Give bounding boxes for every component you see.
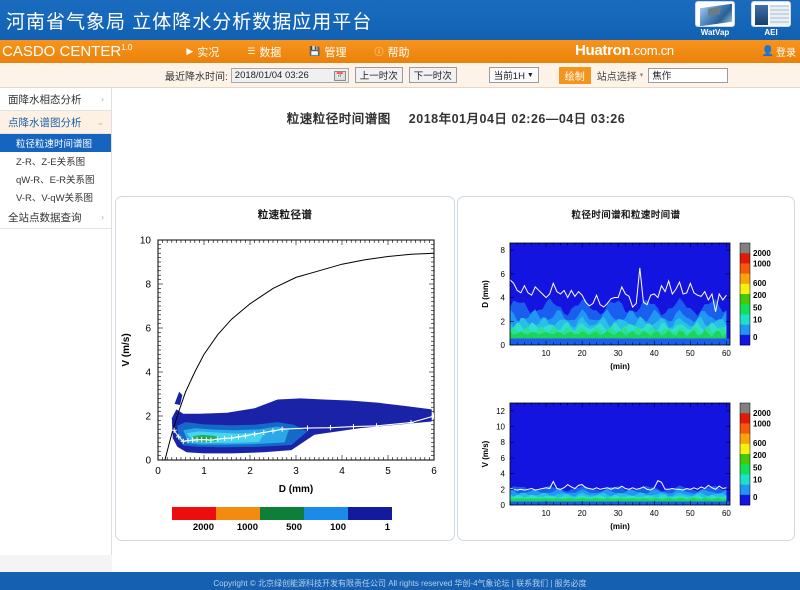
- svg-text:60: 60: [722, 509, 731, 518]
- svg-text:10: 10: [140, 236, 152, 247]
- svg-text:2: 2: [145, 412, 151, 423]
- nav-item-data-label: 数据: [259, 44, 281, 60]
- sidebar-group-all-station-query[interactable]: 全站点数据查询 ›: [0, 206, 111, 229]
- sidebar-item-size-velocity-time-spectrum[interactable]: 粒径粒速时间谱图: [0, 134, 111, 152]
- svg-text:50: 50: [686, 509, 695, 518]
- svg-text:0: 0: [501, 501, 506, 510]
- site-input-value: 焦作: [652, 68, 671, 82]
- svg-text:100: 100: [330, 522, 346, 533]
- sidebar-footer-pad: [0, 555, 112, 572]
- query-toolbar: 最近降水时间: 2018/01/04 03:26 📅 上一时次 下一时次 当前1…: [0, 63, 800, 88]
- svg-text:6: 6: [501, 454, 506, 463]
- svg-text:2: 2: [247, 466, 253, 477]
- svg-text:10: 10: [753, 316, 762, 325]
- svg-text:30: 30: [614, 349, 623, 358]
- latest-time-label: 最近降水时间:: [165, 68, 228, 83]
- svg-text:50: 50: [753, 303, 762, 312]
- svg-text:10: 10: [496, 423, 505, 432]
- svg-text:D (mm): D (mm): [279, 484, 313, 495]
- svg-text:2000: 2000: [753, 409, 771, 418]
- application-window: 河南省气象局 立体降水分析数据应用平台 WatVap AEI CASDO CEN…: [0, 0, 800, 590]
- svg-text:6: 6: [431, 466, 437, 477]
- nav-items: ▶ 实况 ☰ 数据 💾 管理 ⓘ 帮助: [172, 44, 423, 60]
- svg-text:2: 2: [501, 317, 506, 326]
- svg-text:0: 0: [501, 341, 506, 350]
- svg-text:(min): (min): [610, 362, 630, 371]
- svg-text:1: 1: [385, 522, 391, 533]
- svg-text:1000: 1000: [753, 419, 771, 428]
- sidebar-group-area-phase-analysis[interactable]: 面降水相态分析 ›: [0, 88, 111, 111]
- datetime-input[interactable]: 2018/01/04 03:26 📅: [231, 68, 349, 83]
- chevron-right-icon: ›: [101, 212, 104, 222]
- sidebar-item-zr-ze[interactable]: Z-R、Z-E关系图: [0, 152, 111, 170]
- chart-panel-time-spectra: 粒径时间谱和粒速时间谱 02468102030405060(min)D (mm)…: [457, 196, 795, 541]
- chart-title-velocity-diameter: 粒速粒径谱: [116, 207, 454, 222]
- brand-name: CASDO CENTER: [2, 43, 121, 60]
- page-time-range: 2018年01月04日 02:26—04日 03:26: [409, 112, 625, 126]
- page-footer: Copyright © 北京绿创能源科技开发有限责任公司 All rights …: [0, 572, 800, 590]
- nav-item-manage[interactable]: 💾 管理: [295, 44, 360, 60]
- nav-item-live[interactable]: ▶ 实况: [172, 44, 233, 60]
- nav-item-live-label: 实况: [197, 44, 219, 60]
- list-icon: ☰: [247, 46, 255, 57]
- page-banner: 河南省气象局 立体降水分析数据应用平台 WatVap AEI: [0, 0, 800, 40]
- sidebar-navigation: 面降水相态分析 › 点降水谱图分析 ⌄ 粒径粒速时间谱图 Z-R、Z-E关系图 …: [0, 88, 112, 555]
- svg-text:600: 600: [753, 439, 767, 448]
- chevron-down-icon: ▼: [527, 72, 534, 79]
- chevron-down-icon: ⌄: [96, 117, 104, 128]
- calendar-icon[interactable]: 📅: [334, 71, 346, 81]
- nav-item-help[interactable]: ⓘ 帮助: [361, 44, 424, 60]
- prev-time-button[interactable]: 上一时次: [355, 67, 403, 83]
- svg-text:10: 10: [542, 349, 551, 358]
- svg-text:20: 20: [578, 349, 587, 358]
- svg-text:40: 40: [650, 349, 659, 358]
- draw-button[interactable]: 绘制: [559, 67, 591, 84]
- svg-text:6: 6: [145, 324, 151, 335]
- svg-text:12: 12: [496, 407, 505, 416]
- sidebar-item-vr-vqw[interactable]: V-R、V-qW关系图: [0, 188, 111, 206]
- svg-text:1000: 1000: [237, 522, 258, 533]
- sidebar-group-point-spectrum-analysis[interactable]: 点降水谱图分析 ⌄: [0, 111, 111, 134]
- app-shortcut-aei-label: AEI: [764, 28, 777, 37]
- svg-text:10: 10: [753, 476, 762, 485]
- svg-text:4: 4: [501, 470, 506, 479]
- svg-text:40: 40: [650, 509, 659, 518]
- time-spectra-chart[interactable]: 02468102030405060(min)D (mm)200010006002…: [458, 221, 794, 541]
- svg-text:600: 600: [753, 279, 767, 288]
- nav-item-help-label: 帮助: [388, 44, 410, 60]
- main-content: 粒速粒径时间谱图 2018年01月04日 02:26—04日 03:26 粒速粒…: [112, 88, 800, 555]
- help-icon: ⓘ: [375, 45, 384, 58]
- svg-text:50: 50: [686, 349, 695, 358]
- nav-item-data[interactable]: ☰ 数据: [233, 44, 295, 60]
- save-icon: 💾: [309, 46, 320, 57]
- sidebar-group-all-station-query-label: 全站点数据查询: [8, 210, 82, 225]
- main-navigation-bar: CASDO CENTER1.0 ▶ 实况 ☰ 数据 💾 管理 ⓘ 帮助 Huat…: [0, 40, 800, 63]
- login-label: 登录: [776, 44, 796, 59]
- datetime-value: 2018/01/04 03:26: [235, 70, 309, 81]
- svg-text:0: 0: [155, 466, 161, 477]
- svg-text:8: 8: [501, 438, 506, 447]
- huatron-logo[interactable]: Huatron.com.cn: [575, 42, 674, 59]
- svg-text:1000: 1000: [753, 259, 771, 268]
- brand-version: 1.0: [121, 43, 132, 52]
- svg-text:200: 200: [753, 291, 767, 300]
- svg-text:500: 500: [286, 522, 302, 533]
- chart-title-time-spectra: 粒径时间谱和粒速时间谱: [458, 207, 794, 221]
- next-time-button[interactable]: 下一时次: [409, 67, 457, 83]
- footer-copyright: Copyright © 北京绿创能源科技开发有限责任公司 All rights …: [213, 578, 586, 590]
- svg-text:D (mm): D (mm): [481, 280, 490, 308]
- page-title-text: 粒速粒径时间谱图: [287, 112, 391, 126]
- play-icon: ▶: [186, 46, 193, 57]
- watvap-icon: [695, 1, 735, 27]
- svg-text:3: 3: [293, 466, 299, 477]
- brand-logo[interactable]: CASDO CENTER1.0: [0, 43, 132, 60]
- svg-text:4: 4: [501, 294, 506, 303]
- svg-text:8: 8: [501, 246, 506, 255]
- svg-text:20: 20: [578, 509, 587, 518]
- nav-item-manage-label: 管理: [325, 44, 347, 60]
- site-input[interactable]: 焦作: [648, 68, 728, 83]
- svg-text:50: 50: [753, 463, 762, 472]
- svg-text:1: 1: [201, 466, 207, 477]
- svg-text:5: 5: [385, 466, 391, 477]
- chart-panel-velocity-diameter: 粒速粒径谱 01234560246810D (mm)V (m/s)2000100…: [115, 196, 455, 541]
- platform-title: 河南省气象局 立体降水分析数据应用平台: [0, 7, 372, 34]
- svg-text:0: 0: [753, 333, 758, 342]
- sidebar-group-point-spectrum-analysis-label: 点降水谱图分析: [8, 115, 82, 130]
- huatron-name: Huatron: [575, 42, 630, 59]
- site-select-text: 站点选择: [597, 68, 637, 83]
- svg-text:V (m/s): V (m/s): [481, 440, 490, 467]
- svg-text:2000: 2000: [193, 522, 214, 533]
- svg-text:V (m/s): V (m/s): [121, 333, 132, 366]
- svg-text:6: 6: [501, 270, 506, 279]
- svg-text:0: 0: [145, 456, 151, 467]
- sidebar-group-area-phase-analysis-label: 面降水相态分析: [8, 92, 82, 107]
- svg-text:2000: 2000: [753, 249, 771, 258]
- svg-text:4: 4: [145, 368, 151, 379]
- time-range-value: 当前1H: [494, 68, 525, 82]
- page-title: 粒速粒径时间谱图 2018年01月04日 02:26—04日 03:26: [112, 108, 800, 127]
- svg-text:200: 200: [753, 451, 767, 460]
- svg-text:8: 8: [145, 280, 151, 291]
- app-shortcut-aei[interactable]: AEI: [748, 1, 794, 37]
- sidebar-item-qwr-er[interactable]: qW-R、E-R关系图: [0, 170, 111, 188]
- velocity-diameter-spectrum-chart[interactable]: 01234560246810D (mm)V (m/s)2000100050010…: [116, 222, 454, 540]
- svg-text:2: 2: [501, 485, 506, 494]
- app-shortcut-watvap[interactable]: WatVap: [692, 1, 738, 37]
- site-select-label[interactable]: 站点选择 ▾: [597, 68, 644, 83]
- aei-icon: [751, 1, 791, 27]
- sidebar-submenu: 粒径粒速时间谱图 Z-R、Z-E关系图 qW-R、E-R关系图 V-R、V-qW…: [0, 134, 111, 206]
- footer-spacer: [0, 555, 800, 572]
- huatron-domain: .com.cn: [630, 43, 673, 58]
- login-button[interactable]: 👤 登录: [762, 44, 796, 59]
- time-range-select[interactable]: 当前1H ▼: [489, 67, 539, 83]
- chevron-right-icon: ›: [101, 94, 104, 104]
- app-shortcut-watvap-label: WatVap: [701, 28, 730, 37]
- svg-text:10: 10: [542, 509, 551, 518]
- svg-text:0: 0: [753, 493, 758, 502]
- chevron-down-icon: ▾: [640, 71, 644, 79]
- svg-text:30: 30: [614, 509, 623, 518]
- banner-app-shortcuts: WatVap AEI: [692, 1, 794, 37]
- user-icon: 👤: [762, 46, 774, 57]
- svg-text:(min): (min): [610, 522, 630, 531]
- svg-text:60: 60: [722, 349, 731, 358]
- svg-text:4: 4: [339, 466, 345, 477]
